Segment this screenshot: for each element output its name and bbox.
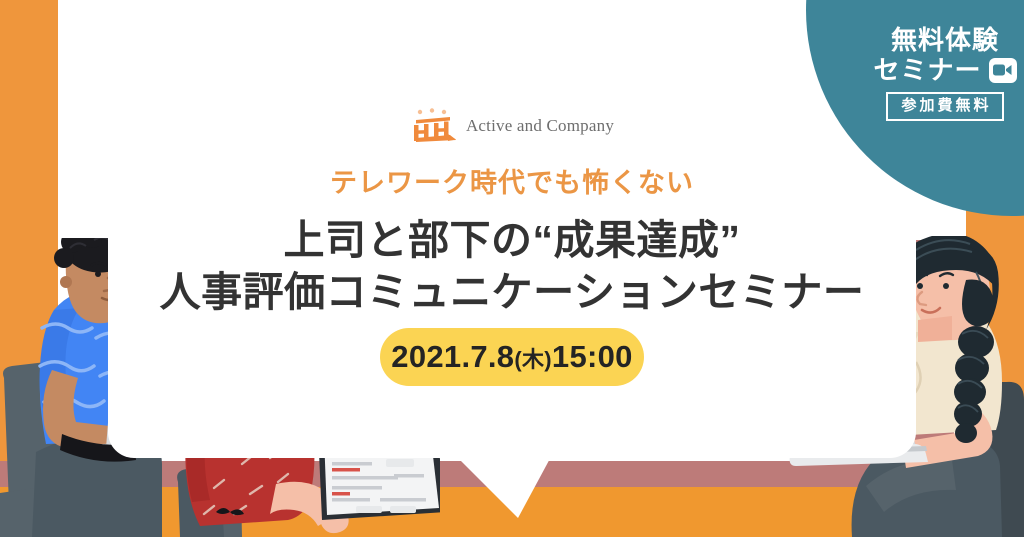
headline-line2: 人事評価コミュニケーションセミナー [0,258,1024,318]
date-pill: 2021.7.8(木)15:00 [380,328,644,386]
brand-logo: Active and Company [0,108,1024,144]
video-camera-icon [989,58,1017,83]
seminar-banner: 無料体験 セミナー 参加費無料 [0,0,1024,537]
date-value: 2021.7.8 [391,339,514,374]
logo-wordmark: Active and Company [466,116,614,136]
headline-kicker: テレワーク時代でも怖くない [0,161,1024,200]
active-and-company-logo-mark [410,108,456,144]
date-weekday: (木) [514,347,552,372]
badge-line1-text: 無料体験 [891,26,999,54]
date-time: 15:00 [552,339,633,374]
badge-line2-text: セミナー [873,56,981,84]
date-pill-text: 2021.7.8(木)15:00 [391,339,632,375]
headline-line1: 上司と部下の“成果達成” [0,206,1024,266]
speech-bubble-tail [440,440,570,530]
badge-line2-row: セミナー [873,56,1016,84]
